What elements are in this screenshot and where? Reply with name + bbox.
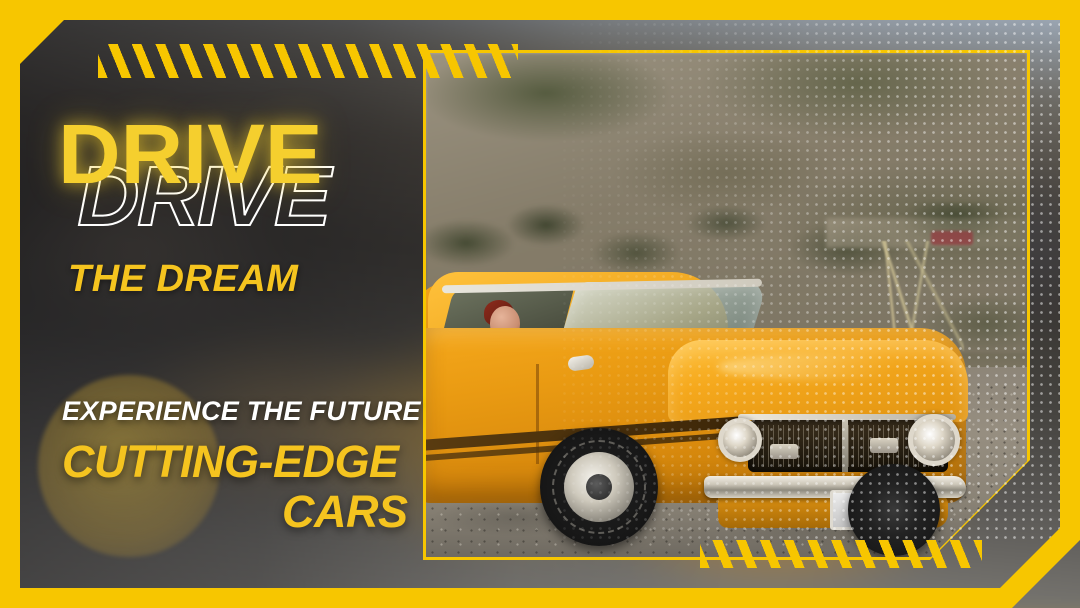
car-parking-light-right <box>870 438 898 453</box>
subheadline: THE DREAM <box>68 258 298 301</box>
car-headlight-left <box>718 418 762 462</box>
drive-headline-group: DRIVE DRIVE <box>62 112 422 247</box>
poster-canvas: DRIVE DRIVE THE DREAM EXPERIENCE THE FUT… <box>0 0 1080 608</box>
car-grille-divider <box>842 420 848 472</box>
car-photo <box>426 53 1027 557</box>
headline-text-column: DRIVE DRIVE THE DREAM EXPERIENCE THE FUT… <box>0 0 440 608</box>
car-rear-wheel <box>848 464 940 556</box>
classic-car <box>426 268 988 557</box>
tagline-line-2: CARS <box>282 486 408 538</box>
kicker-text: EXPERIENCE THE FUTURE <box>62 396 421 427</box>
car-hood-highlight <box>718 354 938 380</box>
car-hood <box>668 340 968 422</box>
photo-frame <box>423 50 1030 560</box>
tagline-line-1: CUTTING-EDGE <box>62 436 399 488</box>
car-headlight-right <box>908 414 960 466</box>
drive-headline: DRIVE <box>58 112 322 196</box>
car-wheel-hub <box>586 474 612 500</box>
car-parking-light-left <box>770 444 798 459</box>
